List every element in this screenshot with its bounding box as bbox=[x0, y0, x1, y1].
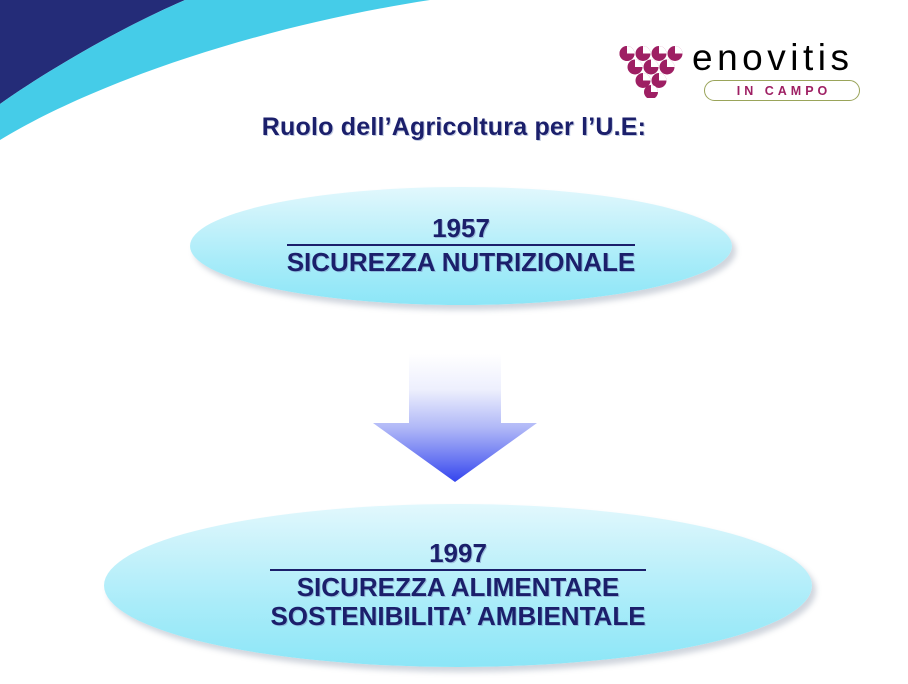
diagram-node-1997: 1997 SICUREZZA ALIMENTARE SOSTENIBILITA’… bbox=[104, 504, 812, 667]
swoosh-navy-band bbox=[0, 0, 185, 104]
node-1957-content: 1957 SICUREZZA NUTRIZIONALE bbox=[287, 214, 636, 278]
node-1957-line-1: SICUREZZA NUTRIZIONALE bbox=[287, 248, 636, 278]
node-1997-content: 1997 SICUREZZA ALIMENTARE SOSTENIBILITA’… bbox=[270, 539, 645, 633]
slide-canvas: enovitis IN CAMPO Ruolo dell’Agricoltura… bbox=[0, 0, 908, 684]
logo-badge-text: IN CAMPO bbox=[705, 81, 859, 100]
diagram-node-1957: 1957 SICUREZZA NUTRIZIONALE bbox=[190, 187, 732, 305]
page-title: Ruolo dell’Agricoltura per l’U.E: bbox=[0, 113, 908, 142]
logo-wordmark: enovitis bbox=[692, 36, 853, 80]
grape-cluster-icon bbox=[618, 42, 686, 98]
node-1997-year: 1997 bbox=[270, 539, 645, 571]
node-1957-year: 1957 bbox=[287, 214, 636, 246]
logo-badge: IN CAMPO bbox=[704, 80, 860, 101]
node-1997-line-1: SICUREZZA ALIMENTARE bbox=[270, 573, 645, 603]
down-arrow-icon bbox=[370, 354, 540, 484]
arrow-shape bbox=[373, 354, 537, 482]
enovitis-logo: enovitis IN CAMPO bbox=[618, 36, 866, 106]
node-1997-line-2: SOSTENIBILITA’ AMBIENTALE bbox=[270, 602, 645, 632]
